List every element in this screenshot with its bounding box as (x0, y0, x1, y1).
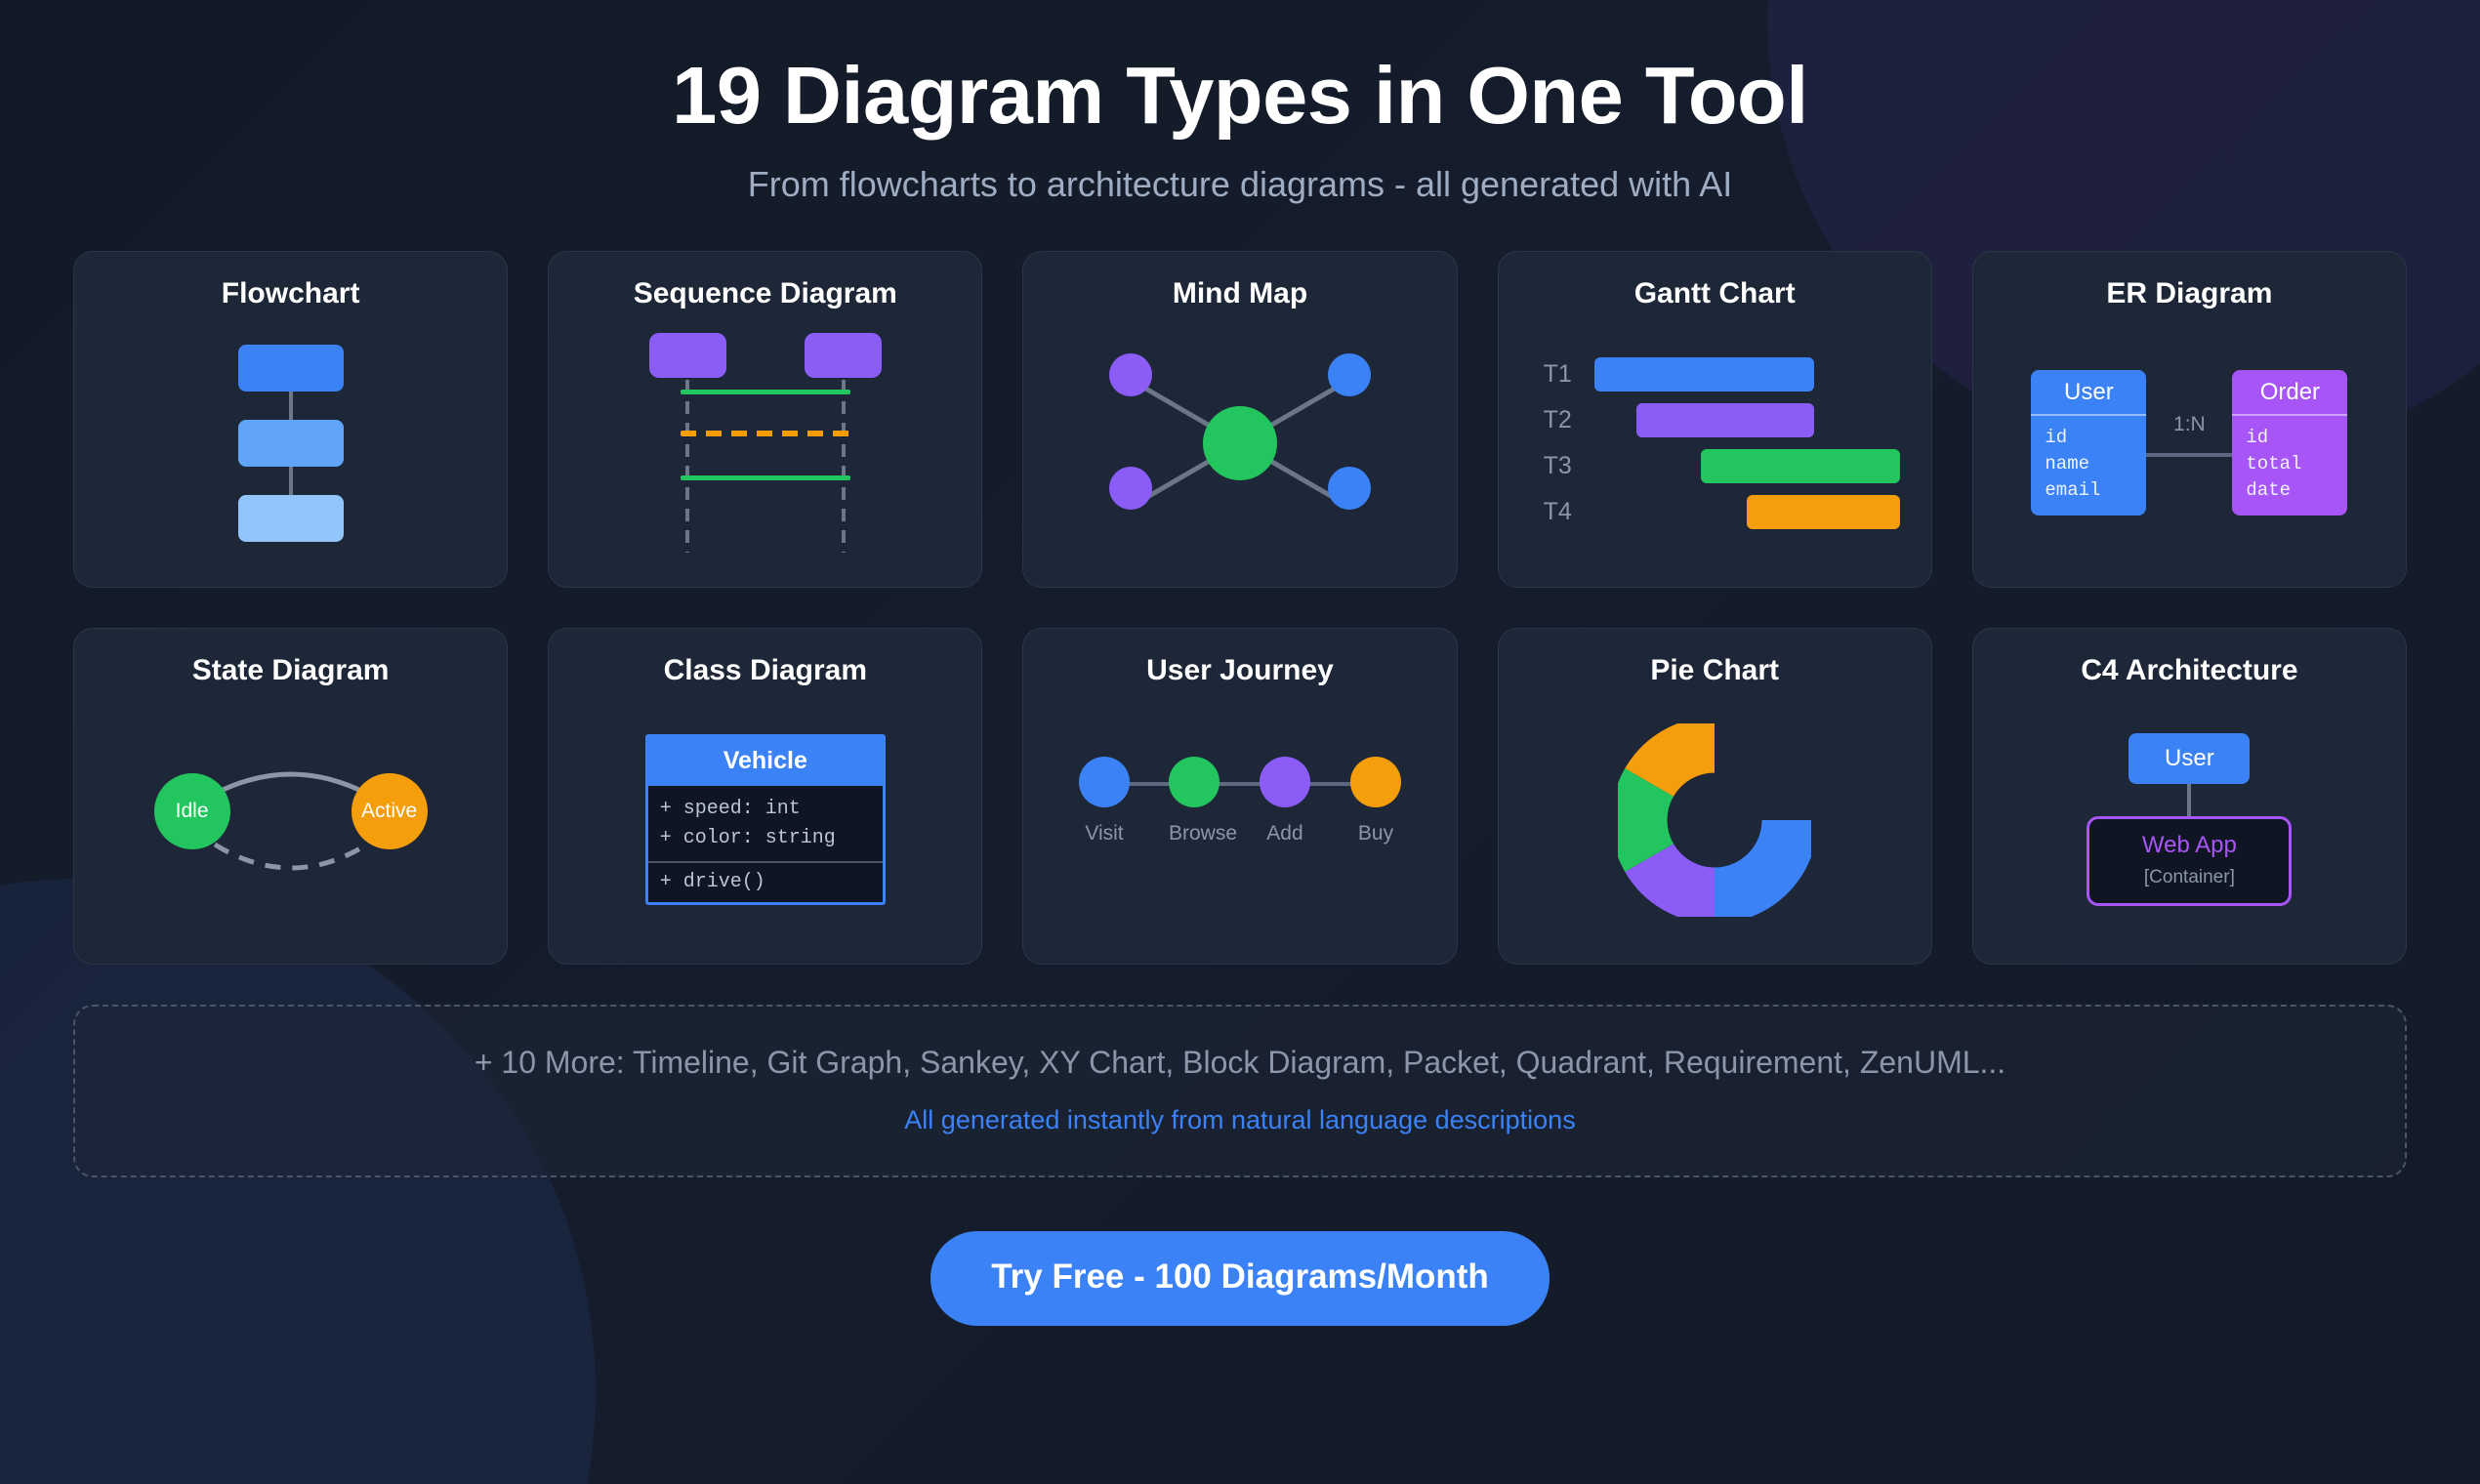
sequence-actor-1 (649, 333, 726, 378)
gantt-bar (1701, 449, 1900, 483)
sequence-message-2 (681, 431, 850, 436)
journey-step-dot (1079, 757, 1130, 807)
class-method: + drive() (660, 871, 871, 893)
er-field: email (2045, 477, 2132, 504)
er-relationship-label: 1:N (2146, 413, 2232, 436)
state-node-label: Active (361, 800, 417, 823)
er-field: id (2045, 425, 2132, 451)
journey-step-dot (1260, 757, 1310, 807)
gantt-bar (1747, 495, 1900, 529)
sequence-lifeline-2 (842, 380, 846, 553)
more-diagram-types-box: + 10 More: Timeline, Git Graph, Sankey, … (73, 1005, 2407, 1177)
gantt-bar (1594, 357, 1815, 392)
card-er-diagram[interactable]: ER Diagram User id name email 1:N (1972, 251, 2407, 588)
journey-step-label: Browse (1169, 822, 1219, 845)
class-attribute: + color: string (660, 824, 871, 853)
card-preview-flowchart (96, 318, 485, 567)
card-preview-gantt-chart: T1 T2 T3 (1520, 318, 1910, 567)
journey-step-label: Buy (1350, 822, 1401, 845)
card-state-diagram[interactable]: State Diagram Idle Active (73, 628, 508, 965)
gantt-row: T4 (1544, 495, 1900, 529)
pie-chart-donut (1618, 723, 1811, 917)
card-title: State Diagram (192, 654, 390, 687)
card-title: Pie Chart (1650, 654, 1779, 687)
card-title: Mind Map (1173, 277, 1307, 310)
state-node-active: Active (351, 773, 428, 849)
sequence-lifeline-1 (685, 380, 689, 553)
gantt-row: T3 (1544, 449, 1900, 483)
flowchart-edge-1 (289, 392, 293, 420)
gantt-row-label: T2 (1544, 406, 1594, 434)
journey-step-label: Visit (1079, 822, 1130, 845)
gantt-row-label: T1 (1544, 360, 1594, 389)
mind-map-branch-top-right (1328, 353, 1371, 396)
class-attribute: + speed: int (660, 795, 871, 824)
card-c4-architecture[interactable]: C4 Architecture User Web App [Container] (1972, 628, 2407, 965)
er-relationship: 1:N (2146, 409, 2232, 477)
pie-slice-blue (1715, 820, 1790, 895)
card-title: Gantt Chart (1634, 277, 1796, 310)
cta-section: Try Free - 100 Diagrams/Month (0, 1231, 2480, 1326)
card-pie-chart[interactable]: Pie Chart (1498, 628, 1932, 965)
er-entity-name: Order (2232, 370, 2347, 416)
er-entity-name: User (2031, 370, 2146, 416)
journey-step-dot (1350, 757, 1401, 807)
more-types-text: + 10 More: Timeline, Git Graph, Sankey, … (75, 1045, 2405, 1081)
card-mind-map[interactable]: Mind Map (1022, 251, 1457, 588)
state-node-idle: Idle (154, 773, 230, 849)
journey-step: Browse (1169, 757, 1219, 845)
journey-step-label: Add (1260, 822, 1310, 845)
card-preview-class-diagram: Vehicle + speed: int + color: string + d… (570, 695, 960, 944)
card-preview-c4-architecture: User Web App [Container] (1995, 695, 2384, 944)
card-title: User Journey (1146, 654, 1334, 687)
card-gantt-chart[interactable]: Gantt Chart T1 T2 (1498, 251, 1932, 588)
er-entity-order: Order id total date (2232, 370, 2347, 515)
card-title: C4 Architecture (2081, 654, 2297, 687)
gantt-track (1594, 357, 1900, 392)
page-subtitle: From flowcharts to architecture diagrams… (0, 164, 2480, 205)
card-user-journey[interactable]: User Journey Visit Browse Add (1022, 628, 1457, 965)
card-title: Flowchart (222, 277, 360, 310)
card-preview-mind-map (1045, 318, 1434, 567)
er-field: name (2045, 451, 2132, 477)
class-name: Vehicle (648, 737, 883, 786)
gantt-row: T2 (1544, 403, 1900, 437)
flowchart-node-2 (238, 420, 344, 467)
c4-edge (2187, 784, 2191, 816)
try-free-button[interactable]: Try Free - 100 Diagrams/Month (930, 1231, 1550, 1326)
pie-slice-green (1639, 782, 1649, 857)
c4-node-web-app: Web App [Container] (2087, 816, 2292, 906)
mind-map-branch-top-left (1109, 353, 1152, 396)
page-header: 19 Diagram Types in One Tool From flowch… (0, 0, 2480, 205)
gantt-bar (1636, 403, 1814, 437)
card-title: Sequence Diagram (634, 277, 897, 310)
mind-map-branch-bottom-left (1109, 467, 1152, 510)
mind-map-center-node (1203, 406, 1277, 480)
gantt-row-label: T4 (1544, 498, 1594, 526)
gantt-track (1594, 495, 1900, 529)
journey-step: Visit (1079, 757, 1130, 845)
pie-slice-orange (1649, 744, 1715, 782)
er-relationship-line (2146, 453, 2232, 457)
card-class-diagram[interactable]: Class Diagram Vehicle + speed: int + col… (548, 628, 982, 965)
gantt-track (1594, 403, 1900, 437)
card-sequence-diagram[interactable]: Sequence Diagram (548, 251, 982, 588)
journey-step: Add (1260, 757, 1310, 845)
er-entity-fields: id name email (2031, 416, 2146, 515)
page-title: 19 Diagram Types in One Tool (0, 53, 2480, 138)
gantt-row-label: T3 (1544, 452, 1594, 480)
c4-node-label: User (2165, 745, 2214, 772)
card-title: ER Diagram (2106, 277, 2272, 310)
journey-step-dot (1169, 757, 1219, 807)
er-entity-fields: id total date (2232, 416, 2347, 515)
journey-connector-line (1104, 782, 1376, 786)
sequence-message-3 (681, 475, 850, 480)
card-preview-pie-chart (1520, 695, 1910, 944)
page-root: 19 Diagram Types in One Tool From flowch… (0, 0, 2480, 1484)
card-preview-sequence-diagram (570, 318, 960, 567)
card-flowchart[interactable]: Flowchart (73, 251, 508, 588)
mind-map-branch-bottom-right (1328, 467, 1371, 510)
class-methods: + drive() (648, 863, 883, 902)
c4-node-sublabel: [Container] (2089, 867, 2289, 888)
card-title: Class Diagram (664, 654, 867, 687)
er-entity-user: User id name email (2031, 370, 2146, 515)
card-preview-er-diagram: User id name email 1:N Order (1995, 318, 2384, 567)
pie-slice-purple (1649, 857, 1715, 895)
gantt-track (1594, 449, 1900, 483)
journey-step: Buy (1350, 757, 1401, 845)
card-preview-user-journey: Visit Browse Add Buy (1045, 695, 1434, 944)
c4-node-label: Web App (2089, 832, 2289, 859)
er-field: id (2246, 425, 2334, 451)
er-field: date (2246, 477, 2334, 504)
er-field: total (2246, 451, 2334, 477)
flowchart-node-1 (238, 345, 344, 392)
state-node-label: Idle (176, 800, 209, 823)
card-preview-state-diagram: Idle Active (96, 695, 485, 944)
sequence-message-1 (681, 390, 850, 394)
c4-node-user: User (2129, 733, 2250, 784)
gantt-row: T1 (1544, 357, 1900, 392)
flowchart-edge-2 (289, 467, 293, 495)
more-types-subtext[interactable]: All generated instantly from natural lan… (75, 1105, 2405, 1135)
class-attributes: + speed: int + color: string (648, 786, 883, 863)
flowchart-node-3 (238, 495, 344, 542)
diagram-type-grid: Flowchart Sequence Diagram (73, 251, 2407, 965)
sequence-actor-2 (805, 333, 882, 378)
